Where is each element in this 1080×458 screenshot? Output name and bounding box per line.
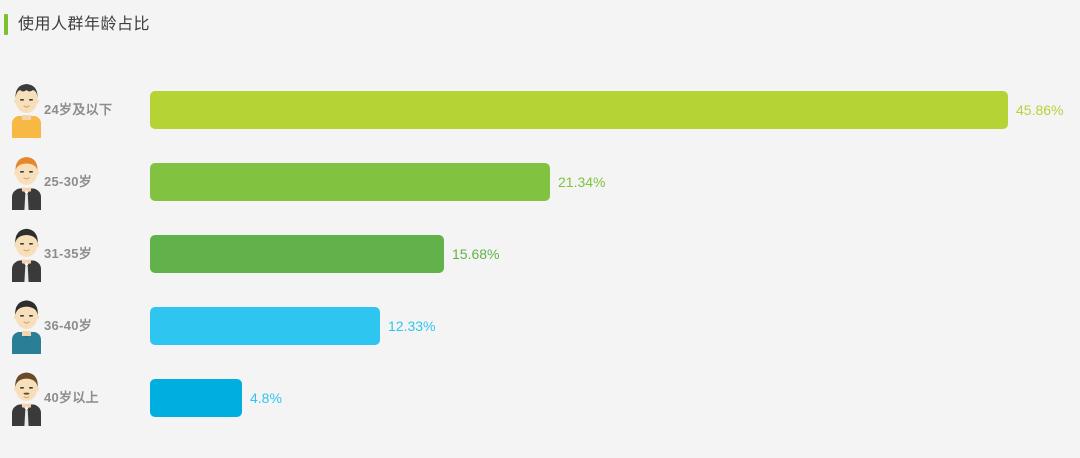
bar-group: 4.8%	[150, 379, 282, 417]
bar-chart: 24岁及以下 45.86%	[0, 72, 1080, 458]
bar-value-label: 21.34%	[558, 163, 605, 201]
chart-row: 36-40岁 12.33%	[0, 288, 1080, 360]
person-icon	[9, 150, 44, 210]
category-label: 36-40岁	[44, 307, 144, 345]
person-icon	[9, 294, 44, 354]
bar-group: 12.33%	[150, 307, 435, 345]
chart-row: 40岁以上 4.8%	[0, 360, 1080, 432]
bar-fill[interactable]	[150, 91, 1008, 129]
bar-fill[interactable]	[150, 235, 444, 273]
page-title: 使用人群年龄占比	[0, 11, 150, 37]
category-label: 24岁及以下	[44, 91, 144, 129]
bar-group: 21.34%	[150, 163, 605, 201]
chart-page: 使用人群年龄占比 24岁及以下	[0, 0, 1080, 458]
person-icon	[9, 222, 44, 282]
category-label: 40岁以上	[44, 379, 144, 417]
avatar	[9, 78, 44, 138]
category-label: 31-35岁	[44, 235, 144, 273]
chart-row: 25-30岁 21.34%	[0, 144, 1080, 216]
avatar	[9, 222, 44, 282]
page-title-text: 使用人群年龄占比	[18, 14, 150, 35]
bar-value-label: 45.86%	[1016, 91, 1063, 129]
category-label: 25-30岁	[44, 163, 144, 201]
bar-fill[interactable]	[150, 163, 550, 201]
title-accent-bar	[4, 14, 8, 35]
bar-group: 45.86%	[150, 91, 1063, 129]
chart-row: 24岁及以下 45.86%	[0, 72, 1080, 144]
chart-row: 31-35岁 15.68%	[0, 216, 1080, 288]
bar-group: 15.68%	[150, 235, 499, 273]
bar-value-label: 15.68%	[452, 235, 499, 273]
avatar	[9, 366, 44, 426]
person-icon	[9, 78, 44, 138]
avatar	[9, 294, 44, 354]
avatar	[9, 150, 44, 210]
bar-fill[interactable]	[150, 379, 242, 417]
person-icon	[9, 366, 44, 426]
bar-fill[interactable]	[150, 307, 380, 345]
bar-value-label: 4.8%	[250, 379, 282, 417]
bar-value-label: 12.33%	[388, 307, 435, 345]
